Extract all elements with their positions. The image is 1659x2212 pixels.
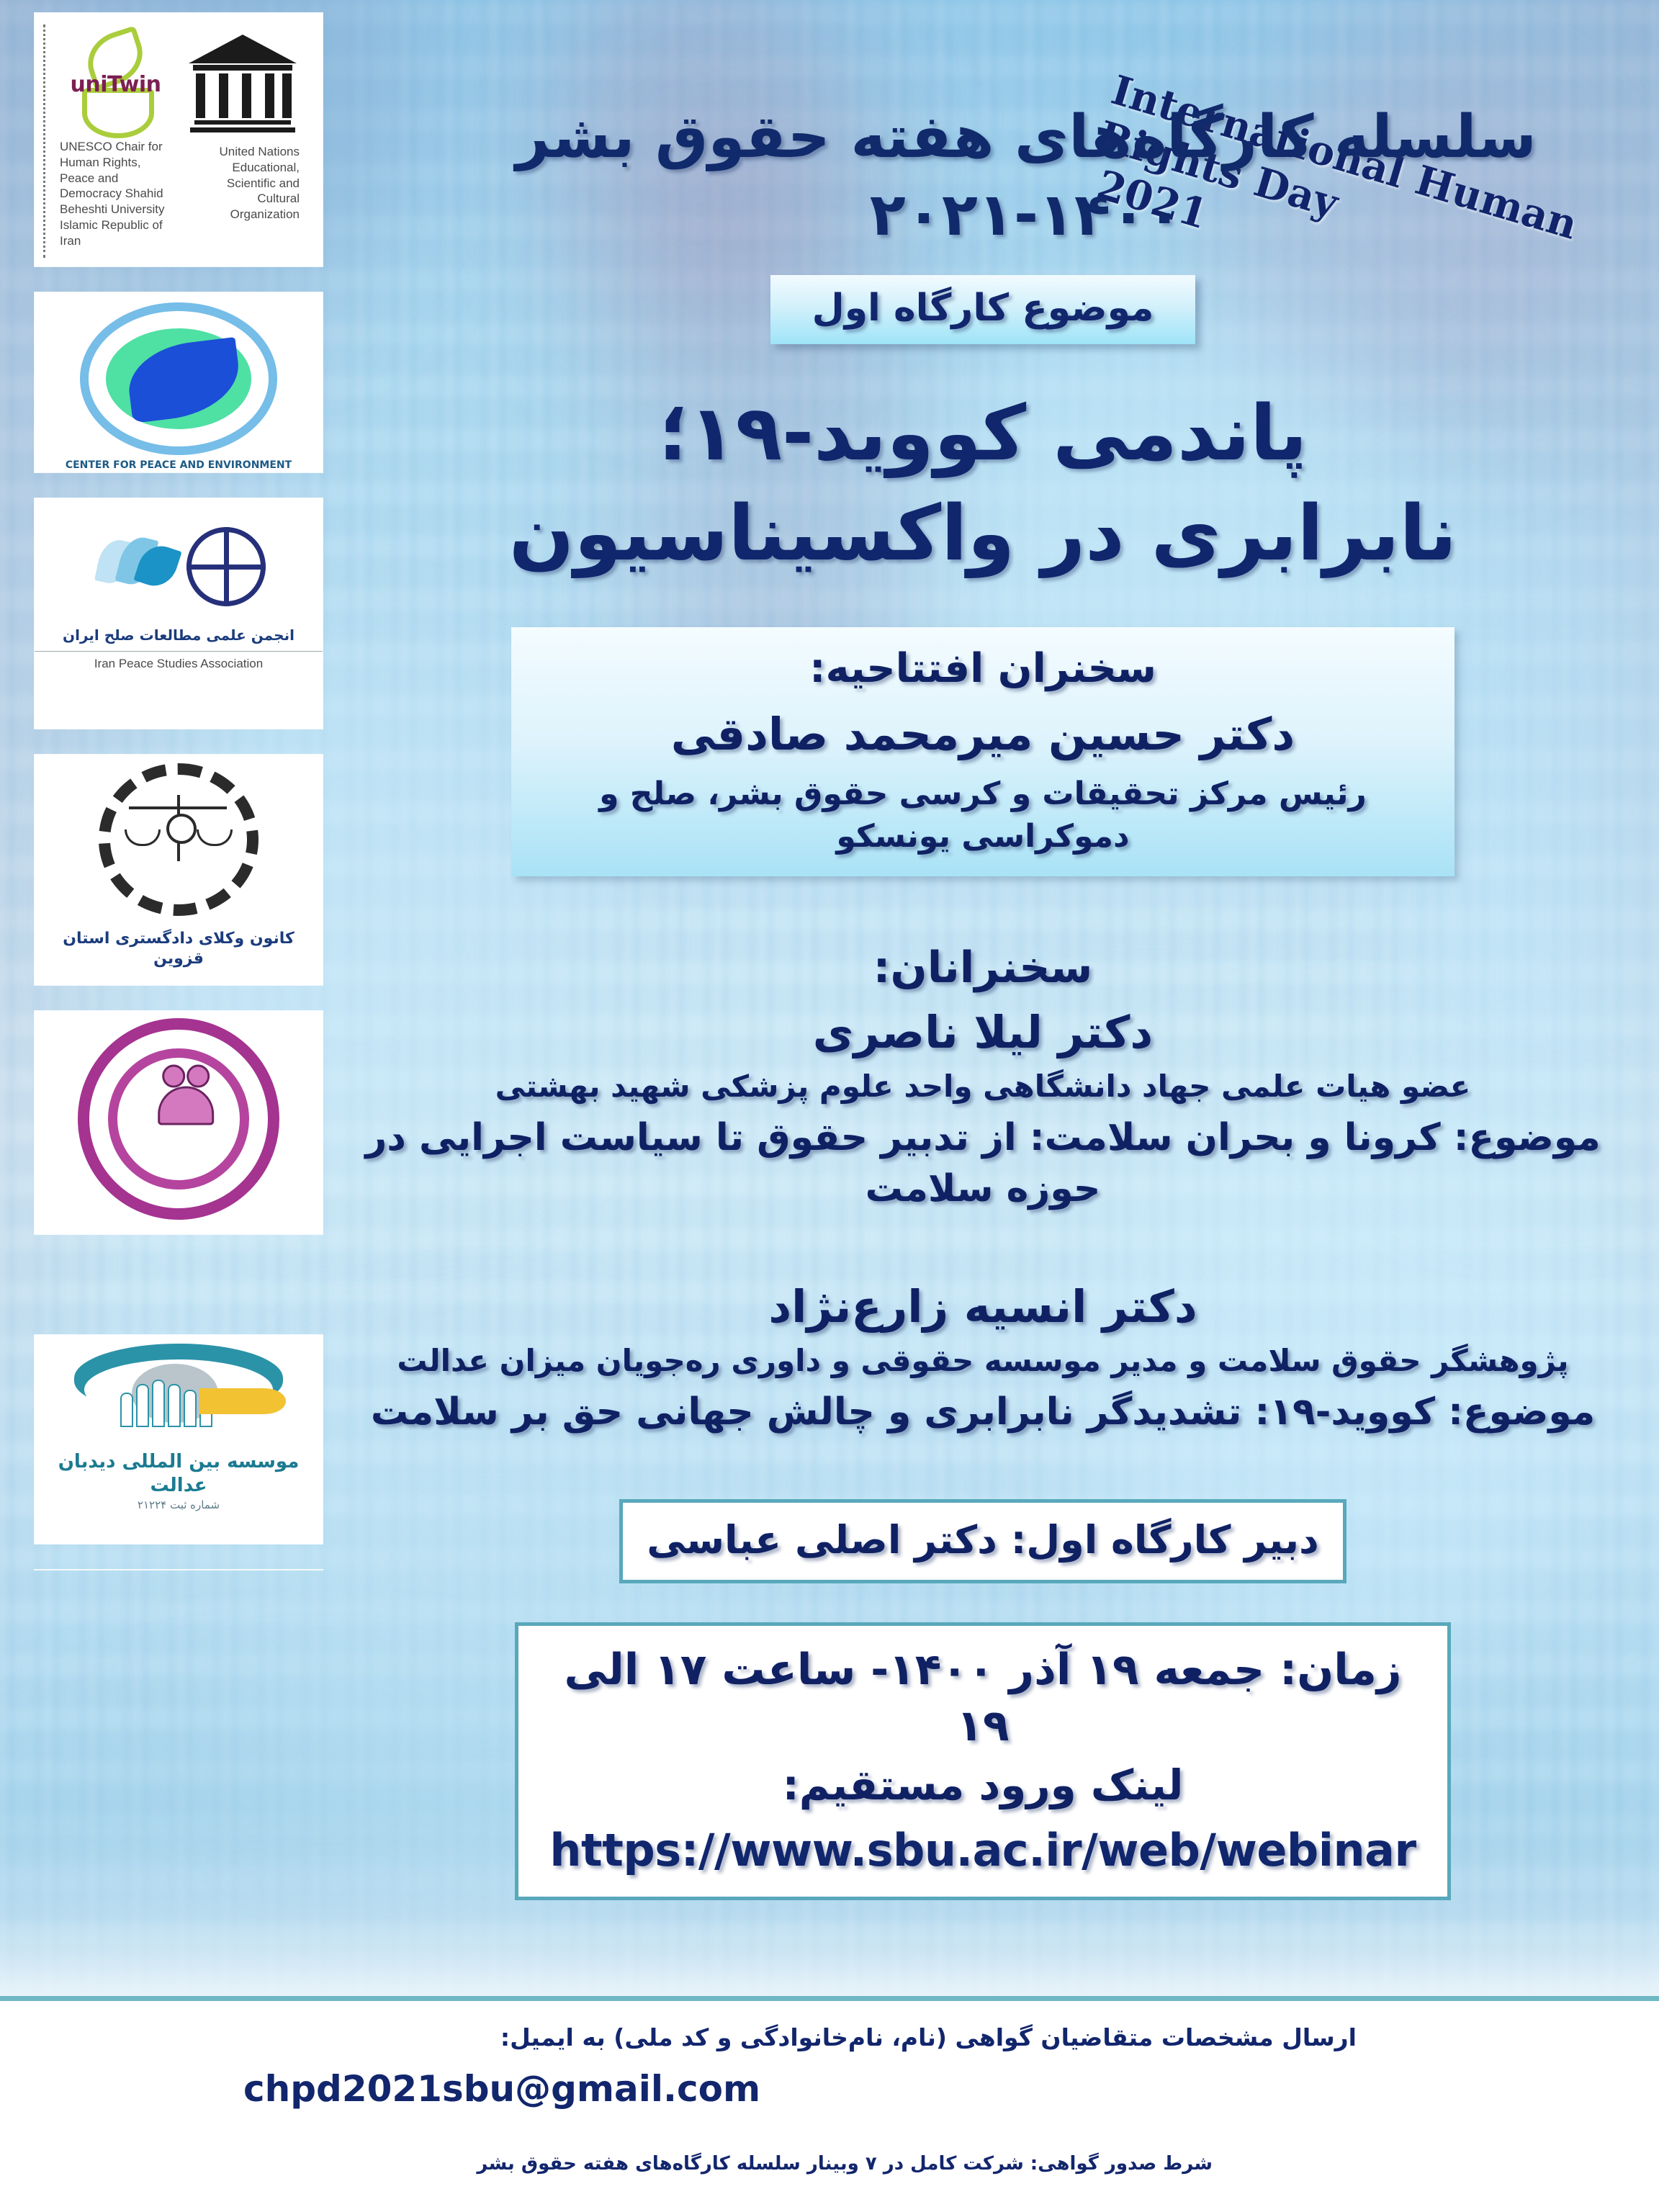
unesco-unitwin-logo: United Nations Educational, Scientific a… — [35, 13, 323, 266]
speaker-topic: موضوع: کرونا و بحران سلامت: از تدبیر حقو… — [338, 1112, 1627, 1213]
certificate-request-note: ارسال مشخصات متقاضیان گواهی (نام، نام‌خا… — [500, 2023, 1357, 2051]
speaker-spacer — [338, 1214, 1627, 1267]
headline-line-2: نابرابری در واکسیناسیون — [367, 483, 1599, 584]
qazvin-bar-association-logo: کانون وکلای دادگستری استان قزوین — [35, 755, 323, 985]
direct-link-label: لینک ورود مستقیم: — [541, 1758, 1424, 1812]
opening-speaker-box: سخنران افتتاحیه: دکتر حسین میرمحمد صادقی… — [511, 627, 1455, 876]
datetime-link-box: زمان: جمعه ۱۹ آذر ۱۴۰۰- ساعت ۱۷ الی ۱۹ ل… — [515, 1622, 1451, 1900]
justice-watch-registration: شماره ثبت ۲۱۲۲۴ — [35, 1498, 323, 1512]
ipsa-caption-en: Iran Peace Studies Association — [35, 651, 323, 672]
justice-watch-caption: موسسه بین المللی دیدبان عدالت — [35, 1450, 323, 1498]
iranian-association-of-womens-studies-logo — [35, 1011, 323, 1234]
ipsa-caption-fa: انجمن علمی مطالعات صلح ایران — [35, 626, 323, 645]
eye-globe-hands-icon — [74, 1344, 283, 1444]
justice-watch-institute-logo: موسسه بین المللی دیدبان عدالت شماره ثبت … — [35, 1335, 323, 1544]
headline: پاندمی کووید-۱۹؛ نابرابری در واکسیناسیون — [338, 383, 1627, 585]
opening-speaker-affiliation: رئیس مرکز تحقیقات و کرسی حقوق بشر، صلح و… — [533, 773, 1433, 858]
center-for-peace-and-environment-logo: CENTER FOR PEACE AND ENVIRONMENT — [35, 292, 323, 472]
cpe-caption-en: CENTER FOR PEACE AND ENVIRONMENT — [35, 459, 323, 471]
speakers-label: سخنرانان: — [338, 943, 1627, 993]
opening-speaker-name: دکتر حسین میرمحمد صادقی — [533, 706, 1433, 764]
unitwin-icon: uniTwin — [62, 33, 170, 130]
webinar-url-link[interactable]: https://www.sbu.ac.ir/web/webinar — [541, 1824, 1424, 1876]
speaker-entry: دکتر انسیه زارع‌نژاد پژوهشگر حقوق سلامت … — [338, 1280, 1627, 1437]
women-studies-emblem-icon — [78, 1018, 279, 1220]
poster-footer: ارسال مشخصات متقاضیان گواهی (نام، نام‌خا… — [0, 1996, 1659, 2212]
speaker-topic: موضوع: کووید-۱۹: تشدیدگر نابرابری و چالش… — [338, 1387, 1627, 1437]
speaker-affiliation: پژوهشگر حقوق سلامت و مدیر موسسه حقوقی و … — [338, 1343, 1627, 1378]
globe-icon — [186, 527, 266, 606]
sponsor-logo-column: United Nations Educational, Scientific a… — [35, 13, 323, 1596]
speaker-entry: دکتر لیلا ناصری عضو هیات علمی جهاد دانشگ… — [338, 1006, 1627, 1213]
peace-dove-icon — [80, 302, 277, 455]
unesco-chair-caption: UNESCO Chair for Human Rights, Peace and… — [53, 139, 179, 248]
unesco-caption: United Nations Educational, Scientific a… — [179, 144, 307, 222]
scales-of-justice-icon — [99, 763, 258, 916]
iran-peace-studies-association-logo: انجمن علمی مطالعات صلح ایران Iran Peace … — [35, 498, 323, 729]
unesco-temple-icon — [189, 35, 297, 135]
speaker-name: دکتر لیلا ناصری — [338, 1006, 1627, 1058]
workshop-secretary-box: دبیر کارگاه اول: دکتر اصلی عباسی — [619, 1499, 1346, 1583]
certificate-condition-note: شرط صدور گواهی: شرکت کامل در ۷ وبینار سل… — [477, 2153, 1213, 2175]
opening-speaker-label: سخنران افتتاحیه: — [533, 643, 1433, 696]
unitwin-wordmark: uniTwin — [62, 72, 170, 97]
headline-line-1: پاندمی کووید-۱۹؛ — [367, 383, 1599, 484]
series-title: سلسله کارگاه‌های هفته حقوق بشر — [338, 101, 1627, 175]
topic-badge: موضوع کارگاه اول — [770, 275, 1196, 344]
contact-email[interactable]: chpd2021sbu@gmail.com — [243, 2068, 760, 2110]
bird-icon — [91, 536, 178, 597]
event-time: زمان: جمعه ۱۹ آذر ۱۴۰۰- ساعت ۱۷ الی ۱۹ — [541, 1642, 1424, 1754]
series-years: ۲۰۲۱-۱۴۰۰ — [338, 181, 1627, 249]
poster-content: سلسله کارگاه‌های هفته حقوق بشر ۲۰۲۱-۱۴۰۰… — [338, 0, 1627, 1900]
poster-root: International Human Rights Day 2021 — [0, 0, 1659, 2212]
qazvin-caption: کانون وکلای دادگستری استان قزوین — [35, 929, 323, 969]
speaker-name: دکتر انسیه زارع‌نژاد — [338, 1280, 1627, 1333]
speaker-affiliation: عضو هیات علمی جهاد دانشگاهی واحد علوم پز… — [338, 1069, 1627, 1104]
